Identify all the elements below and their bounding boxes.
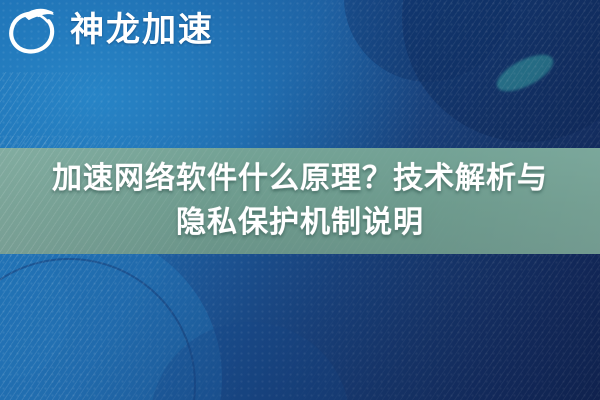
headline-line-2: 隐私保护机制说明 bbox=[176, 202, 424, 244]
headline-text-block: 加速网络软件什么原理？技术解析与 隐私保护机制说明 bbox=[0, 148, 600, 254]
brand-logo: 神龙加速 bbox=[8, 4, 214, 56]
headline-line-1: 加速网络软件什么原理？技术解析与 bbox=[52, 158, 548, 200]
brand-wordmark: 神龙加速 bbox=[70, 13, 214, 47]
promo-poster: 神龙加速 加速网络软件什么原理？技术解析与 隐私保护机制说明 bbox=[0, 0, 600, 400]
dragon-ring-icon bbox=[8, 4, 60, 56]
headline-band: 加速网络软件什么原理？技术解析与 隐私保护机制说明 bbox=[0, 148, 600, 254]
